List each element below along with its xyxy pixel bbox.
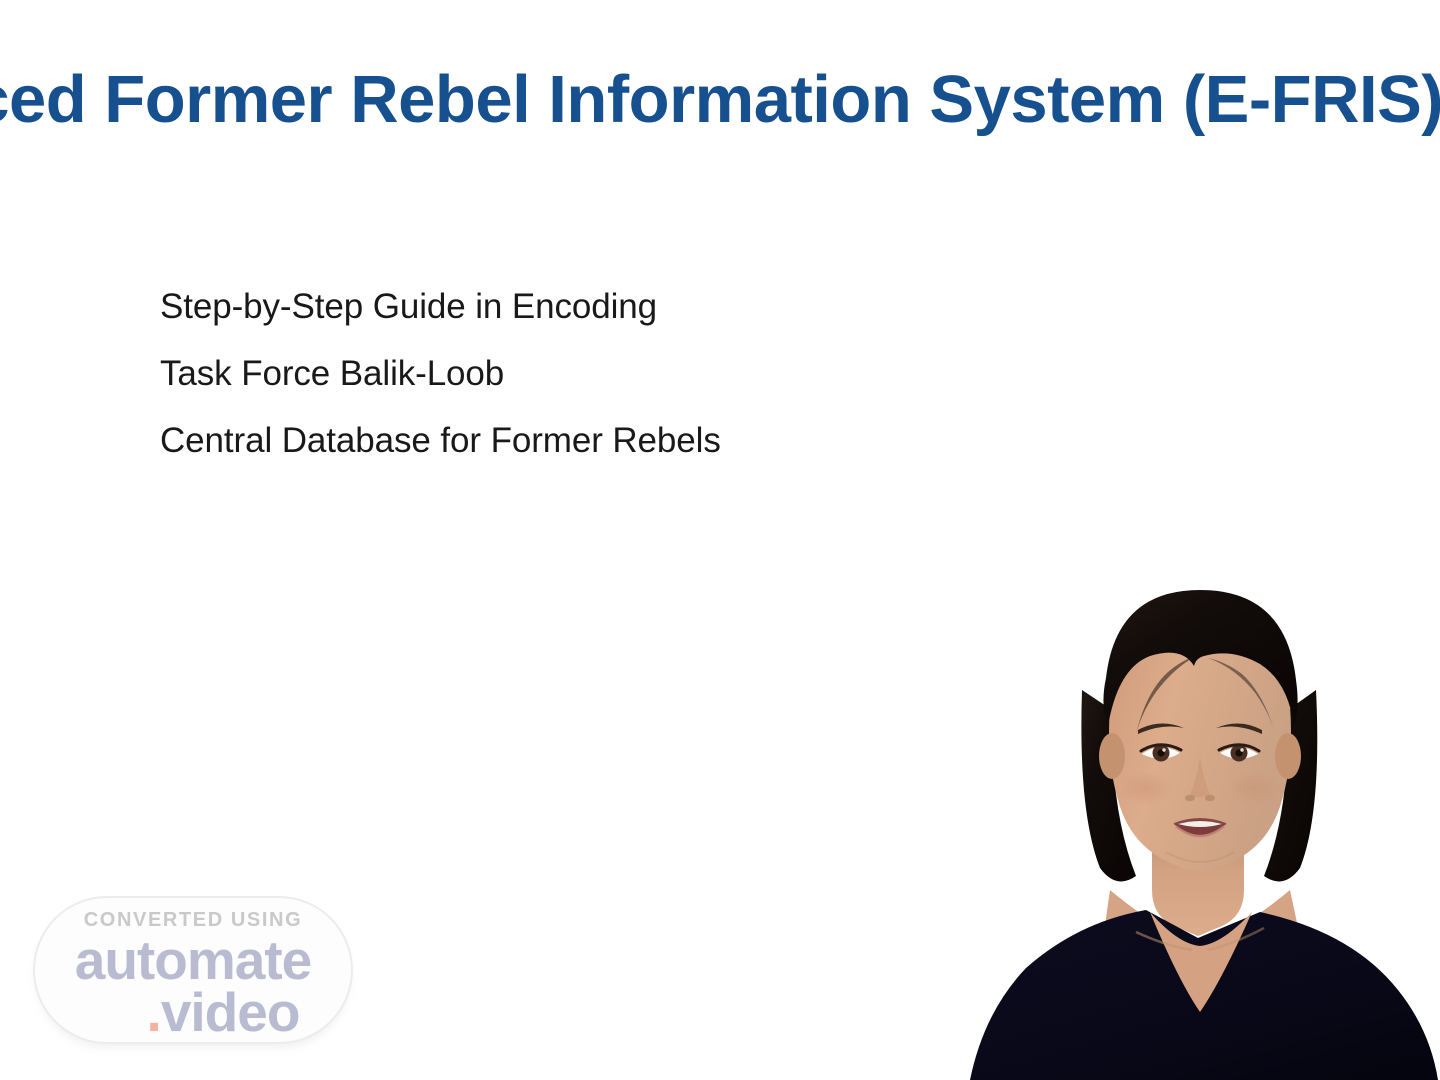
watermark-eyebrow-label: CONVERTED USING <box>84 909 302 931</box>
watermark-suffix-label: video <box>161 981 300 1043</box>
watermark-suffix-row: .video <box>147 984 300 1055</box>
slide-body: Step-by-Step Guide in Encoding Task Forc… <box>160 283 920 465</box>
body-line-2: Task Force Balik-Loob <box>160 350 920 398</box>
presentation-slide: Enhanced Former Rebel Information System… <box>0 0 1440 1080</box>
presenter-avatar <box>960 560 1440 1080</box>
body-line-1: Step-by-Step Guide in Encoding <box>160 283 920 331</box>
body-line-3: Central Database for Former Rebels <box>160 417 920 465</box>
watermark-badge: CONVERTED USING automate .video <box>33 896 353 1044</box>
presenter-illustration <box>960 560 1440 1080</box>
watermark-dot: . <box>147 981 161 1043</box>
watermark-brand-label: automate <box>75 932 312 988</box>
page-title: Enhanced Former Rebel Information System… <box>0 58 1440 142</box>
